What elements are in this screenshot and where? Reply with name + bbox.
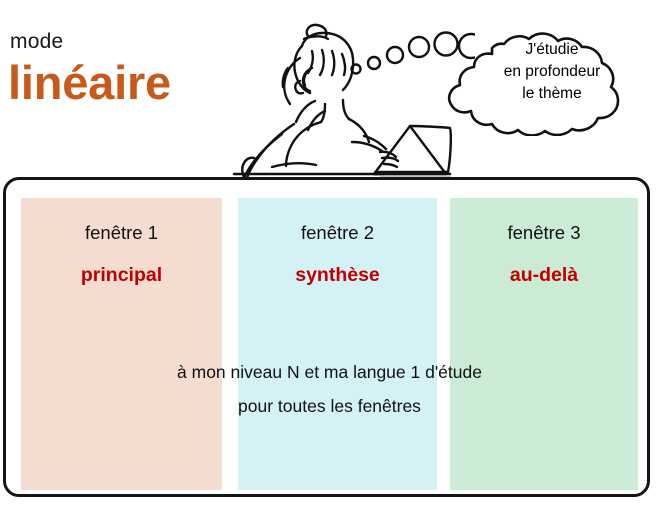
- column-2-name: synthèse: [238, 264, 437, 287]
- column-fenetre-1[interactable]: fenêtre 1 principal: [21, 198, 222, 490]
- column-3-header: fenêtre 3: [450, 222, 638, 244]
- thought-line-1: J'étudie: [526, 39, 579, 61]
- column-2-header: fenêtre 2: [238, 222, 437, 244]
- column-1-name: principal: [21, 264, 222, 287]
- column-1-header: fenêtre 1: [21, 222, 222, 244]
- page-title: linéaire: [8, 58, 171, 107]
- column-3-name: au-delà: [450, 264, 638, 287]
- windows-panel: fenêtre 1 principal fenêtre 2 synthèse f…: [3, 177, 650, 497]
- mode-label: mode: [10, 30, 63, 54]
- thought-bubble-text-block: J'étudie en profondeur le thème: [446, 2, 658, 136]
- thought-line-2: en profondeur: [504, 61, 601, 83]
- columns-container: fenêtre 1 principal fenêtre 2 synthèse f…: [21, 198, 638, 490]
- column-fenetre-2[interactable]: fenêtre 2 synthèse: [238, 198, 437, 490]
- header: mode linéaire: [0, 0, 659, 178]
- column-fenetre-3[interactable]: fenêtre 3 au-delà: [450, 198, 638, 490]
- thought-line-3: le thème: [522, 83, 581, 105]
- thought-bubble: J'étudie en profondeur le thème: [446, 2, 658, 136]
